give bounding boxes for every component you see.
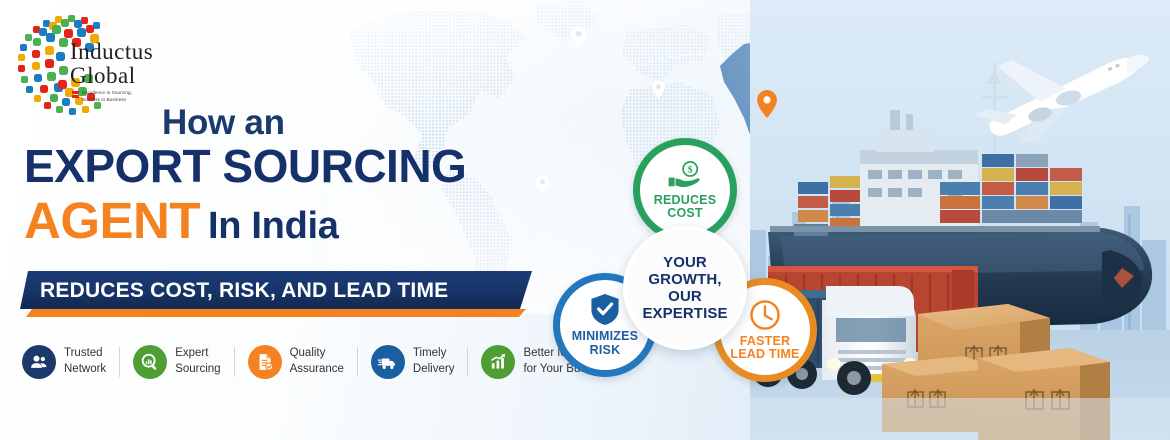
hand-money-icon: $ bbox=[666, 160, 704, 190]
subbanner: REDUCES COST, RISK, AND LEAD TIME bbox=[20, 271, 550, 321]
benefit-label-line2: COST bbox=[654, 207, 717, 220]
center-label-line4: EXPERTISE bbox=[642, 305, 727, 322]
feature-item-quality-assurance[interactable]: Quality Assurance bbox=[248, 345, 344, 379]
feature-label-line1: Timely bbox=[413, 346, 455, 362]
benefit-label-line2: RISK bbox=[572, 344, 638, 357]
feature-label-line1: Trusted bbox=[64, 346, 106, 362]
benefit-label: REDUCES COST bbox=[654, 194, 717, 221]
location-pin-white bbox=[571, 26, 586, 48]
feature-item-trusted-network[interactable]: Trusted Network bbox=[22, 345, 106, 379]
benefit-label-line1: REDUCES bbox=[654, 194, 717, 207]
benefit-label-line1: FASTER bbox=[730, 335, 799, 348]
hero-banner: Inductus Global Excellence in Sourcing, … bbox=[0, 0, 1170, 440]
headline-line-2: EXPORT SOURCING bbox=[24, 143, 570, 191]
feature-label-line1: Expert bbox=[175, 346, 220, 362]
feature-divider bbox=[357, 347, 358, 377]
headline-line-1: How an bbox=[162, 105, 570, 140]
feature-label: Quality Assurance bbox=[290, 346, 344, 377]
feature-label: Expert Sourcing bbox=[175, 346, 220, 377]
center-label-line3: OUR bbox=[642, 288, 727, 305]
benefit-label-line1: MINIMIZES bbox=[572, 330, 638, 343]
brand-logo[interactable]: Inductus Global Excellence in Sourcing, … bbox=[12, 10, 157, 125]
feature-item-timely-delivery[interactable]: Timely Delivery bbox=[371, 345, 455, 379]
headline-block: How an EXPORT SOURCING AGENTIn India bbox=[150, 105, 570, 250]
brand-name-line1: Inductus bbox=[70, 40, 165, 63]
feature-divider bbox=[119, 347, 120, 377]
feature-label-line2: Network bbox=[64, 362, 106, 378]
brand-name-line2: Global bbox=[70, 64, 165, 87]
feature-divider bbox=[234, 347, 235, 377]
headline-highlight-agent: AGENT bbox=[24, 192, 200, 249]
benefit-label-line2: LEAD TIME bbox=[730, 348, 799, 361]
subbanner-navy-bar: REDUCES COST, RISK, AND LEAD TIME bbox=[20, 271, 532, 309]
search-chart-icon bbox=[133, 345, 167, 379]
document-check-icon bbox=[248, 345, 282, 379]
feature-label-line2: Delivery bbox=[413, 362, 455, 378]
brand-name-block: Inductus Global Excellence in Sourcing, … bbox=[70, 40, 165, 103]
growth-chart-icon bbox=[481, 345, 515, 379]
subbanner-orange-accent bbox=[26, 309, 526, 317]
location-pin-white bbox=[652, 80, 665, 99]
feature-label-line2: Sourcing bbox=[175, 362, 220, 378]
shield-check-icon bbox=[590, 293, 620, 326]
svg-text:$: $ bbox=[688, 164, 693, 175]
feature-divider bbox=[467, 347, 468, 377]
feature-list: Trusted Network Expert Sourcing bbox=[22, 345, 613, 379]
feature-item-expert-sourcing[interactable]: Expert Sourcing bbox=[133, 345, 220, 379]
feature-label: Trusted Network bbox=[64, 346, 106, 377]
brand-tagline: Excellence in Sourcing, Success in Busin… bbox=[70, 90, 165, 103]
headline-in-india: In India bbox=[208, 205, 339, 247]
clock-icon bbox=[749, 299, 781, 331]
center-label-line2: GROWTH, bbox=[642, 271, 727, 288]
benefit-node-center[interactable]: YOUR GROWTH, OUR EXPERTISE bbox=[623, 226, 747, 350]
benefit-label: MINIMIZES RISK bbox=[572, 330, 638, 357]
benefit-label: FASTER LEAD TIME bbox=[730, 335, 799, 362]
center-label-line1: YOUR bbox=[642, 254, 727, 271]
airplane-icon bbox=[962, 38, 1158, 142]
feature-label: Timely Delivery bbox=[413, 346, 455, 377]
users-icon bbox=[22, 345, 56, 379]
feature-label-line2: Assurance bbox=[290, 362, 344, 378]
feature-label-line1: Quality bbox=[290, 346, 344, 362]
delivery-truck-icon bbox=[371, 345, 405, 379]
benefits-infographic: $ REDUCES COST MINIMIZES RISK bbox=[545, 138, 845, 388]
center-label: YOUR GROWTH, OUR EXPERTISE bbox=[642, 254, 727, 322]
subbanner-text: REDUCES COST, RISK, AND LEAD TIME bbox=[40, 279, 448, 303]
headline-line-3: AGENTIn India bbox=[24, 191, 570, 250]
